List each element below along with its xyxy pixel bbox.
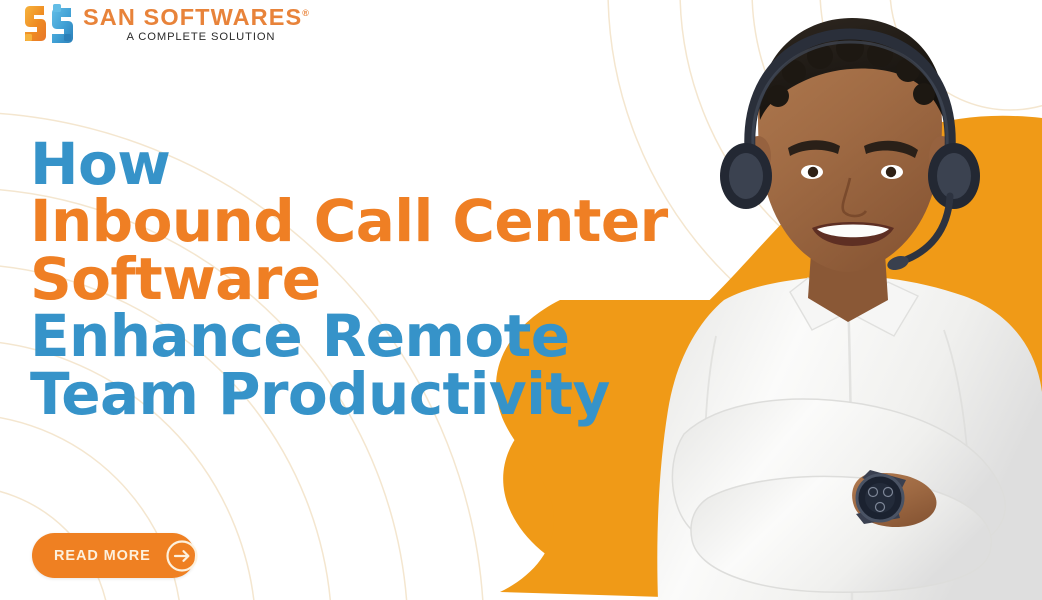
promo-banner: SAN SOFTWARES® A COMPLETE SOLUTION How I… <box>0 0 1042 600</box>
brand-logo[interactable]: SAN SOFTWARES® A COMPLETE SOLUTION <box>24 2 309 46</box>
logo-text-block: SAN SOFTWARES® A COMPLETE SOLUTION <box>83 5 309 43</box>
double-s-logo-icon <box>24 2 74 46</box>
head <box>745 18 955 272</box>
headline-line-3: Software <box>30 251 668 308</box>
page-title: How Inbound Call Center Software Enhance… <box>30 136 668 423</box>
agent-photo <box>612 0 1042 600</box>
logo-tagline: A COMPLETE SOLUTION <box>83 31 309 43</box>
wristwatch-icon <box>856 470 906 524</box>
headline-line-5: Team Productivity <box>30 366 668 423</box>
logo-wordmark-text: SAN SOFTWARES <box>83 4 302 30</box>
headline-line-4: Enhance Remote <box>30 308 668 365</box>
headline-line-2: Inbound Call Center <box>30 193 668 250</box>
read-more-button[interactable]: READ MORE <box>32 533 195 578</box>
headline-line-1: How <box>30 136 668 193</box>
read-more-label: READ MORE <box>54 548 151 564</box>
circled-arrow-right-icon <box>165 539 199 573</box>
registered-trademark-icon: ® <box>302 8 309 18</box>
logo-wordmark: SAN SOFTWARES® <box>83 5 309 30</box>
